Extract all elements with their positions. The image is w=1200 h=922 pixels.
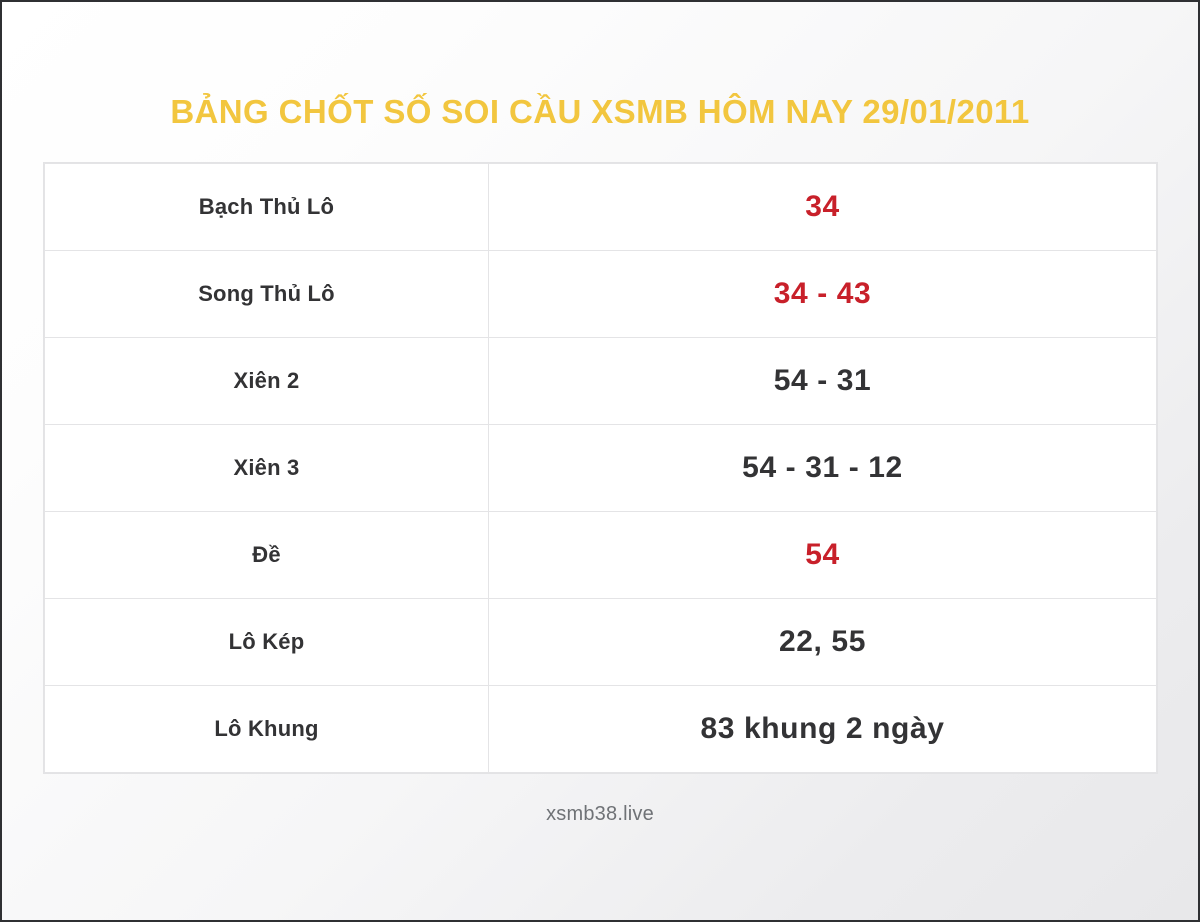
- row-label: Bạch Thủ Lô: [45, 163, 489, 250]
- row-label: Xiên 2: [45, 337, 489, 424]
- row-label: Song Thủ Lô: [45, 250, 489, 337]
- table-row: Bạch Thủ Lô34: [45, 163, 1157, 250]
- prediction-table-body: Bạch Thủ Lô34Song Thủ Lô34 - 43Xiên 254 …: [45, 163, 1157, 772]
- row-value: 54: [489, 511, 1157, 598]
- table-row: Xiên 254 - 31: [45, 337, 1157, 424]
- page-title: BẢNG CHỐT SỐ SOI CẦU XSMB HÔM NAY 29/01/…: [170, 95, 1029, 130]
- row-value: 54 - 31: [489, 337, 1157, 424]
- row-label: Lô Kép: [45, 598, 489, 685]
- site-watermark: xsmb38.live: [546, 803, 654, 826]
- prediction-table: Bạch Thủ Lô34Song Thủ Lô34 - 43Xiên 254 …: [44, 163, 1157, 773]
- page-container: BẢNG CHỐT SỐ SOI CẦU XSMB HÔM NAY 29/01/…: [2, 2, 1198, 920]
- table-row: Đề54: [45, 511, 1157, 598]
- row-label: Lô Khung: [45, 685, 489, 772]
- row-value: 83 khung 2 ngày: [489, 685, 1157, 772]
- row-value: 54 - 31 - 12: [489, 424, 1157, 511]
- row-value: 34 - 43: [489, 250, 1157, 337]
- row-value: 34: [489, 163, 1157, 250]
- row-value: 22, 55: [489, 598, 1157, 685]
- table-row: Song Thủ Lô34 - 43: [45, 250, 1157, 337]
- row-label: Đề: [45, 511, 489, 598]
- table-row: Lô Khung83 khung 2 ngày: [45, 685, 1157, 772]
- prediction-table-wrapper: Bạch Thủ Lô34Song Thủ Lô34 - 43Xiên 254 …: [44, 163, 1156, 773]
- table-row: Lô Kép22, 55: [45, 598, 1157, 685]
- row-label: Xiên 3: [45, 424, 489, 511]
- table-row: Xiên 354 - 31 - 12: [45, 424, 1157, 511]
